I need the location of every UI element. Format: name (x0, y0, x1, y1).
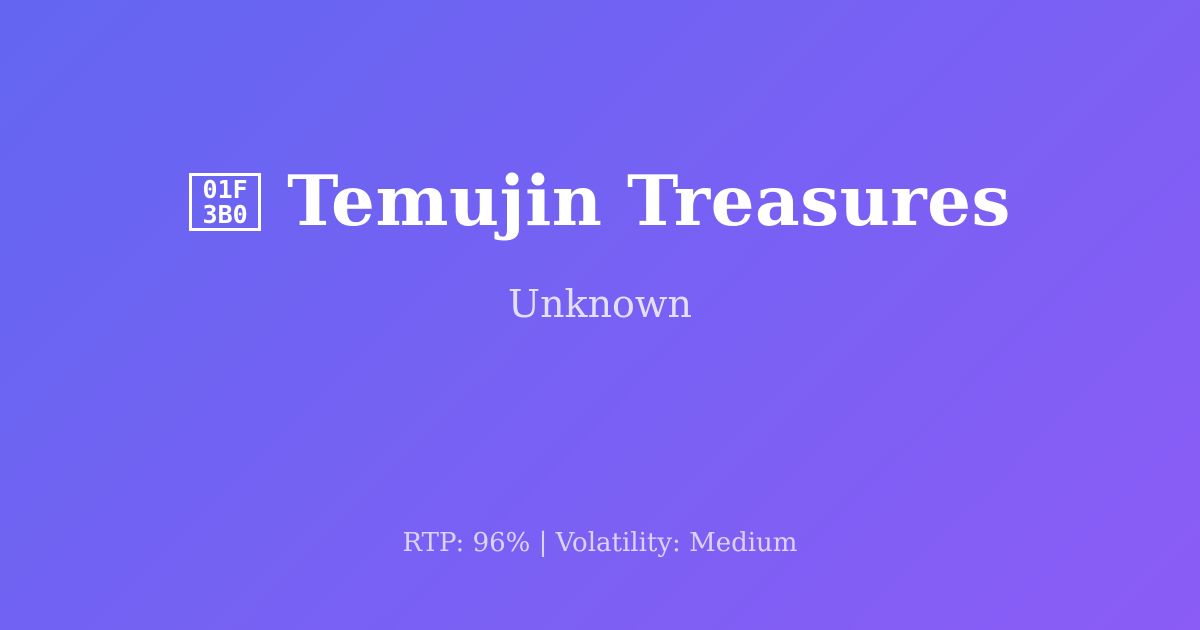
game-provider-subtitle: Unknown (508, 284, 692, 326)
page-title: Temujin Treasures (287, 167, 1011, 236)
tofu-codepoint-line-2: 3B0 (203, 202, 248, 227)
og-share-card: 01F 3B0 Temujin Treasures Unknown RTP: 9… (0, 0, 1200, 630)
metadata-text: RTP: 96% | Volatility: Medium (403, 528, 798, 558)
slot-machine-icon: 01F 3B0 (189, 173, 261, 231)
title-row: 01F 3B0 Temujin Treasures (189, 167, 1011, 236)
hero-block: 01F 3B0 Temujin Treasures Unknown (0, 0, 1200, 492)
game-metadata-footer: RTP: 96% | Volatility: Medium (0, 528, 1200, 559)
tofu-codepoint-line-1: 01F (203, 177, 248, 202)
